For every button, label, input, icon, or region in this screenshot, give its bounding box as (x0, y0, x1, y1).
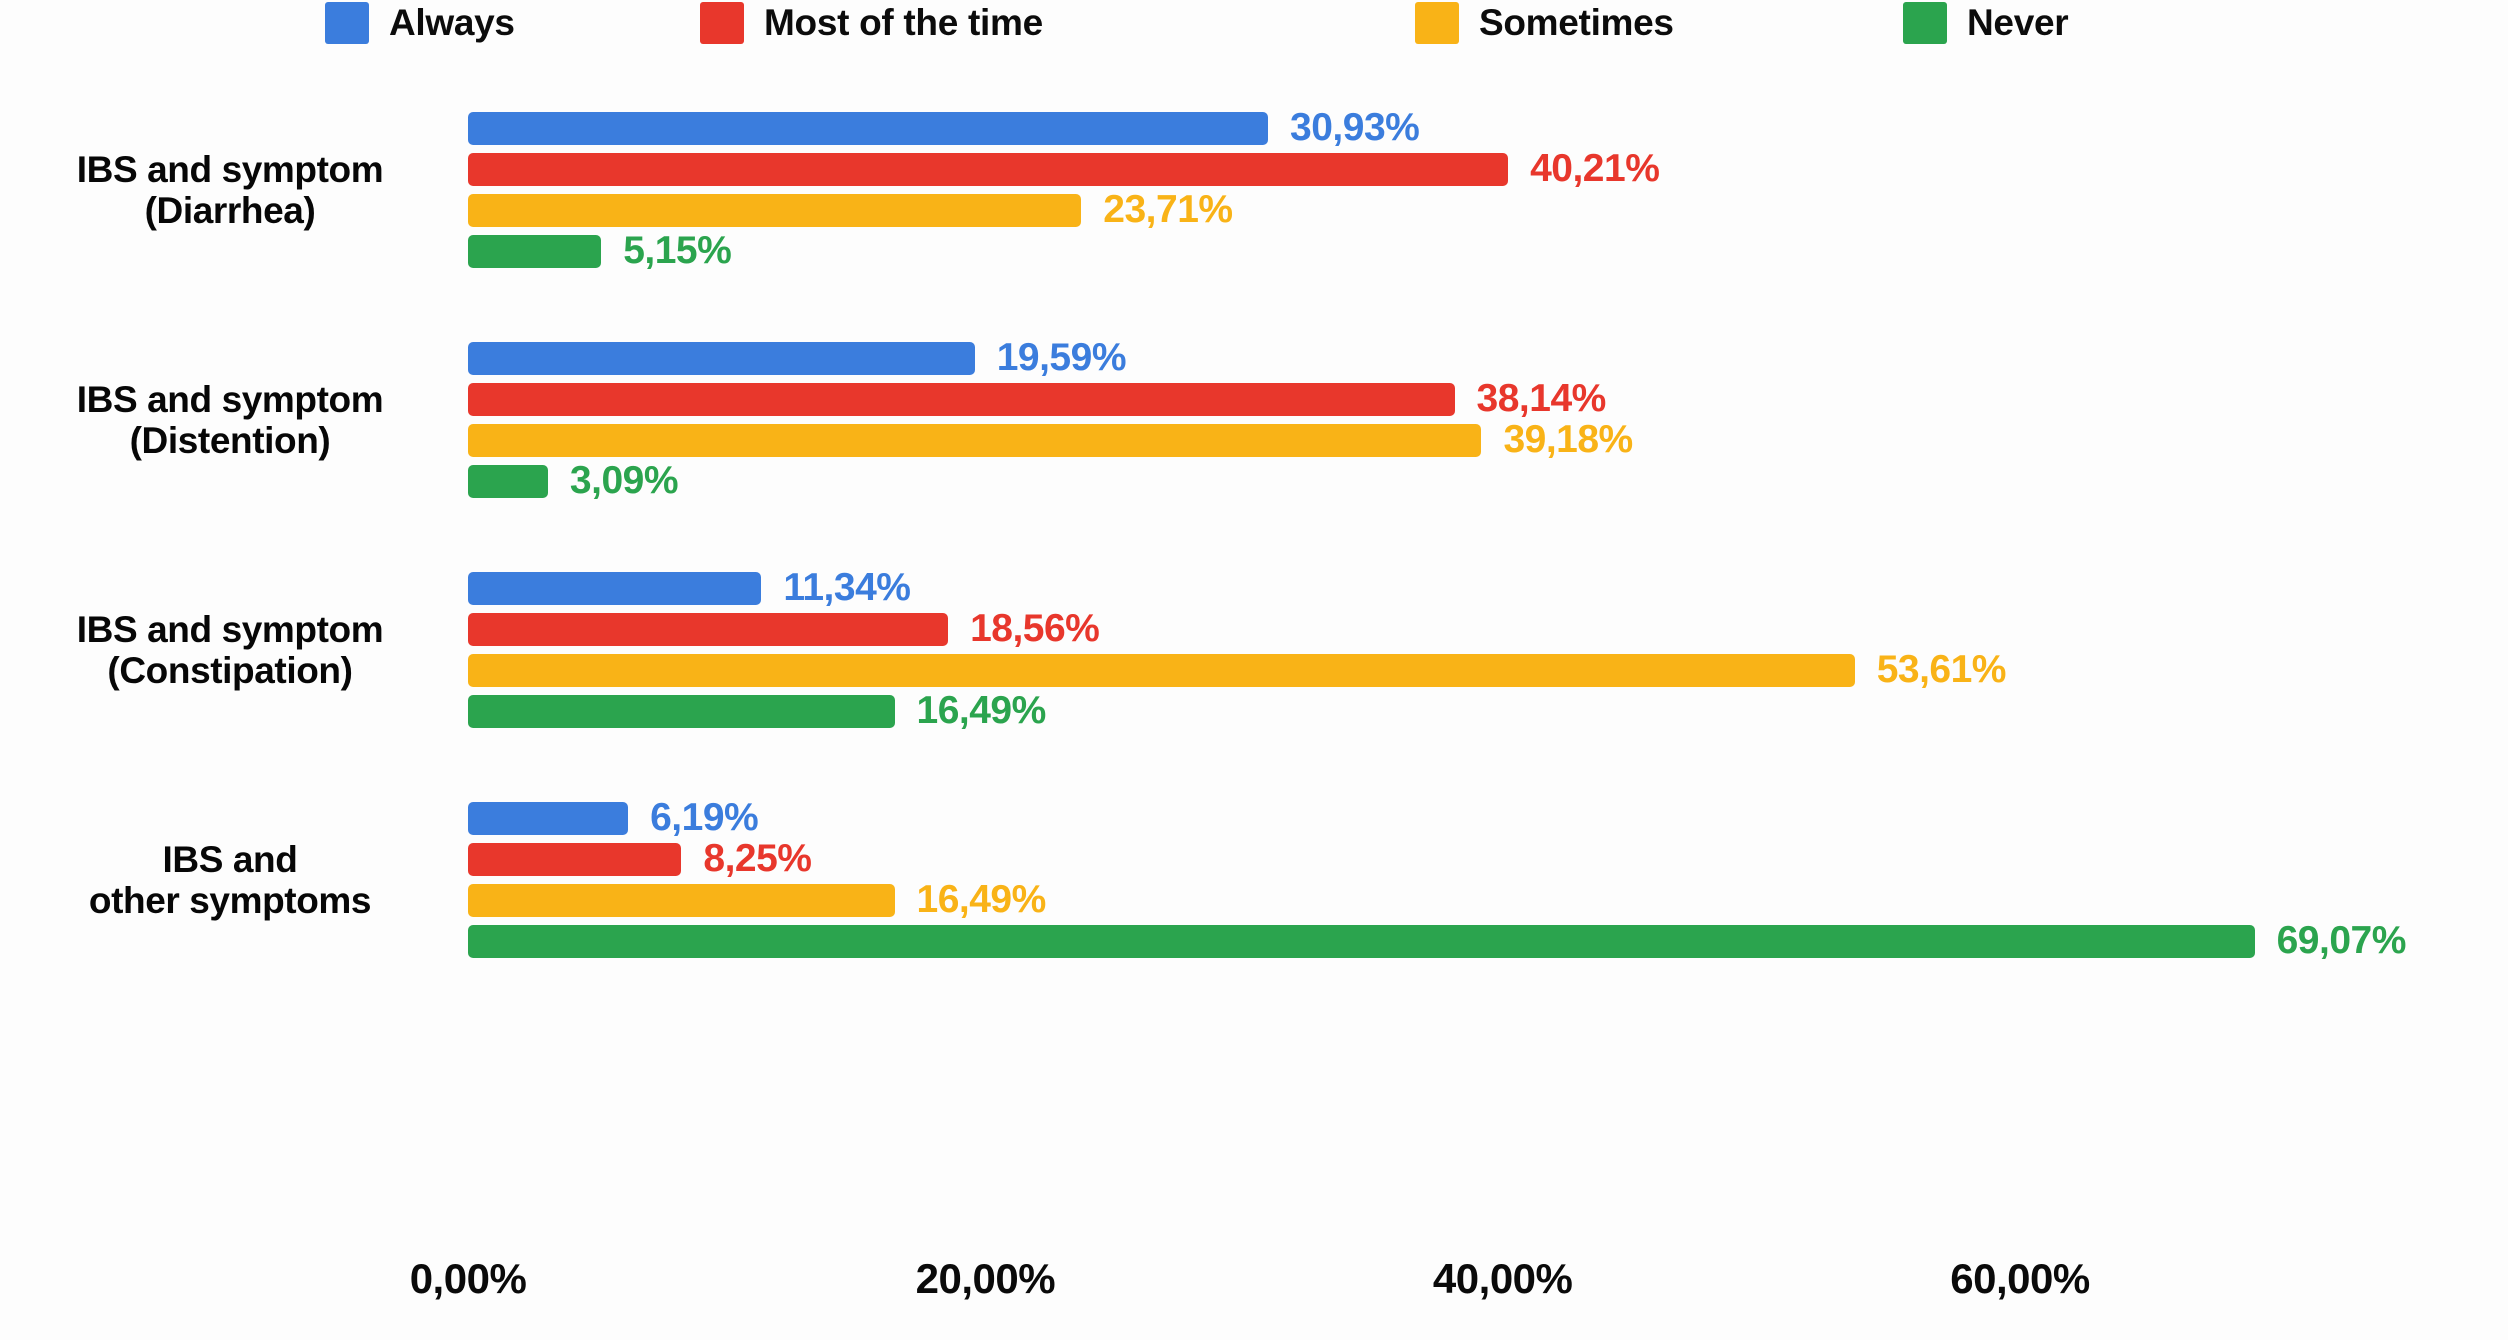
bar-row: 23,71% (468, 194, 2508, 227)
category-label: IBS and symptom(Constipation) (10, 609, 450, 692)
chart-legend: Always Most of the time Sometimes Never (0, 0, 2508, 62)
bar-row: 18,56% (468, 613, 2508, 646)
bar[interactable] (468, 112, 1268, 145)
legend-swatch-always-icon (325, 2, 369, 44)
bar-value-label: 16,49% (917, 689, 1046, 733)
category-label-line: IBS and (10, 839, 450, 880)
category-label-line: IBS and symptom (10, 379, 450, 420)
category-label-line: IBS and symptom (10, 149, 450, 190)
bar-value-label: 19,59% (997, 336, 1126, 380)
plot-area: IBS and symptom(Diarrhea)30,93%40,21%23,… (0, 62, 2508, 1242)
bar-row: 53,61% (468, 654, 2508, 687)
legend-item-most-of-the-time[interactable]: Most of the time (700, 2, 1043, 44)
bar[interactable] (468, 802, 628, 835)
x-axis-tick-label: 20,00% (916, 1255, 1055, 1303)
bar-value-label: 16,49% (917, 878, 1046, 922)
bar[interactable] (468, 654, 1855, 687)
bar-chart: Always Most of the time Sometimes Never … (0, 0, 2508, 1340)
legend-item-always[interactable]: Always (325, 2, 515, 44)
bar-row: 38,14% (468, 383, 2508, 416)
bar[interactable] (468, 613, 948, 646)
bar-value-label: 5,15% (623, 229, 731, 273)
bar-row: 19,59% (468, 342, 2508, 375)
bar-value-label: 69,07% (2277, 919, 2406, 963)
category-label-line: IBS and symptom (10, 609, 450, 650)
bar-row: 6,19% (468, 802, 2508, 835)
legend-label-sometimes: Sometimes (1479, 2, 1674, 44)
category-label-line: (Diarrhea) (10, 190, 450, 231)
bar[interactable] (468, 884, 895, 917)
x-axis-tick-label: 0,00% (410, 1255, 527, 1303)
legend-label-most-of-the-time: Most of the time (764, 2, 1043, 44)
bar[interactable] (468, 572, 761, 605)
category-label: IBS and symptom(Distention) (10, 379, 450, 462)
bar[interactable] (468, 925, 2255, 958)
legend-swatch-sometimes-icon (1415, 2, 1459, 44)
legend-swatch-never-icon (1903, 2, 1947, 44)
category-label-line: other symptoms (10, 880, 450, 921)
category-label: IBS andother symptoms (10, 839, 450, 922)
bar[interactable] (468, 383, 1455, 416)
bar-value-label: 8,25% (703, 837, 811, 881)
bar-group: IBS and symptom(Diarrhea)30,93%40,21%23,… (0, 112, 2508, 276)
bar-row: 11,34% (468, 572, 2508, 605)
legend-label-always: Always (389, 2, 515, 44)
bar[interactable] (468, 695, 895, 728)
bar-group: IBS and symptom(Distention)19,59%38,14%3… (0, 342, 2508, 506)
x-axis-tick-label: 60,00% (1950, 1255, 2089, 1303)
category-label-line: (Distention) (10, 420, 450, 461)
bar-row: 5,15% (468, 235, 2508, 268)
bar-row: 69,07% (468, 925, 2508, 958)
bar-row: 39,18% (468, 424, 2508, 457)
legend-swatch-most-of-the-time-icon (700, 2, 744, 44)
bar-value-label: 53,61% (1877, 648, 2006, 692)
category-label-line: (Constipation) (10, 650, 450, 691)
x-axis: 0,00%20,00%40,00%60,00% (0, 1255, 2508, 1340)
bar[interactable] (468, 342, 975, 375)
bar-row: 40,21% (468, 153, 2508, 186)
bar-value-label: 18,56% (970, 607, 1099, 651)
bar-group: IBS andother symptoms6,19%8,25%16,49%69,… (0, 802, 2508, 966)
bar-value-label: 30,93% (1290, 106, 1419, 150)
category-label: IBS and symptom(Diarrhea) (10, 149, 450, 232)
bar[interactable] (468, 235, 601, 268)
bar-group: IBS and symptom(Constipation)11,34%18,56… (0, 572, 2508, 736)
bar-row: 30,93% (468, 112, 2508, 145)
bar-row: 8,25% (468, 843, 2508, 876)
bar[interactable] (468, 153, 1508, 186)
bar[interactable] (468, 424, 1481, 457)
legend-item-never[interactable]: Never (1903, 2, 2068, 44)
bar-row: 16,49% (468, 695, 2508, 728)
bar-value-label: 40,21% (1530, 147, 1659, 191)
bar[interactable] (468, 194, 1081, 227)
bar-value-label: 6,19% (650, 796, 758, 840)
bar[interactable] (468, 843, 681, 876)
bar[interactable] (468, 465, 548, 498)
bar-value-label: 3,09% (570, 459, 678, 503)
bar-row: 3,09% (468, 465, 2508, 498)
bar-value-label: 23,71% (1103, 188, 1232, 232)
bar-value-label: 39,18% (1503, 418, 1632, 462)
x-axis-tick-label: 40,00% (1433, 1255, 1572, 1303)
legend-item-sometimes[interactable]: Sometimes (1415, 2, 1674, 44)
bar-value-label: 38,14% (1477, 377, 1606, 421)
bar-value-label: 11,34% (783, 566, 910, 610)
legend-label-never: Never (1967, 2, 2068, 44)
bar-row: 16,49% (468, 884, 2508, 917)
